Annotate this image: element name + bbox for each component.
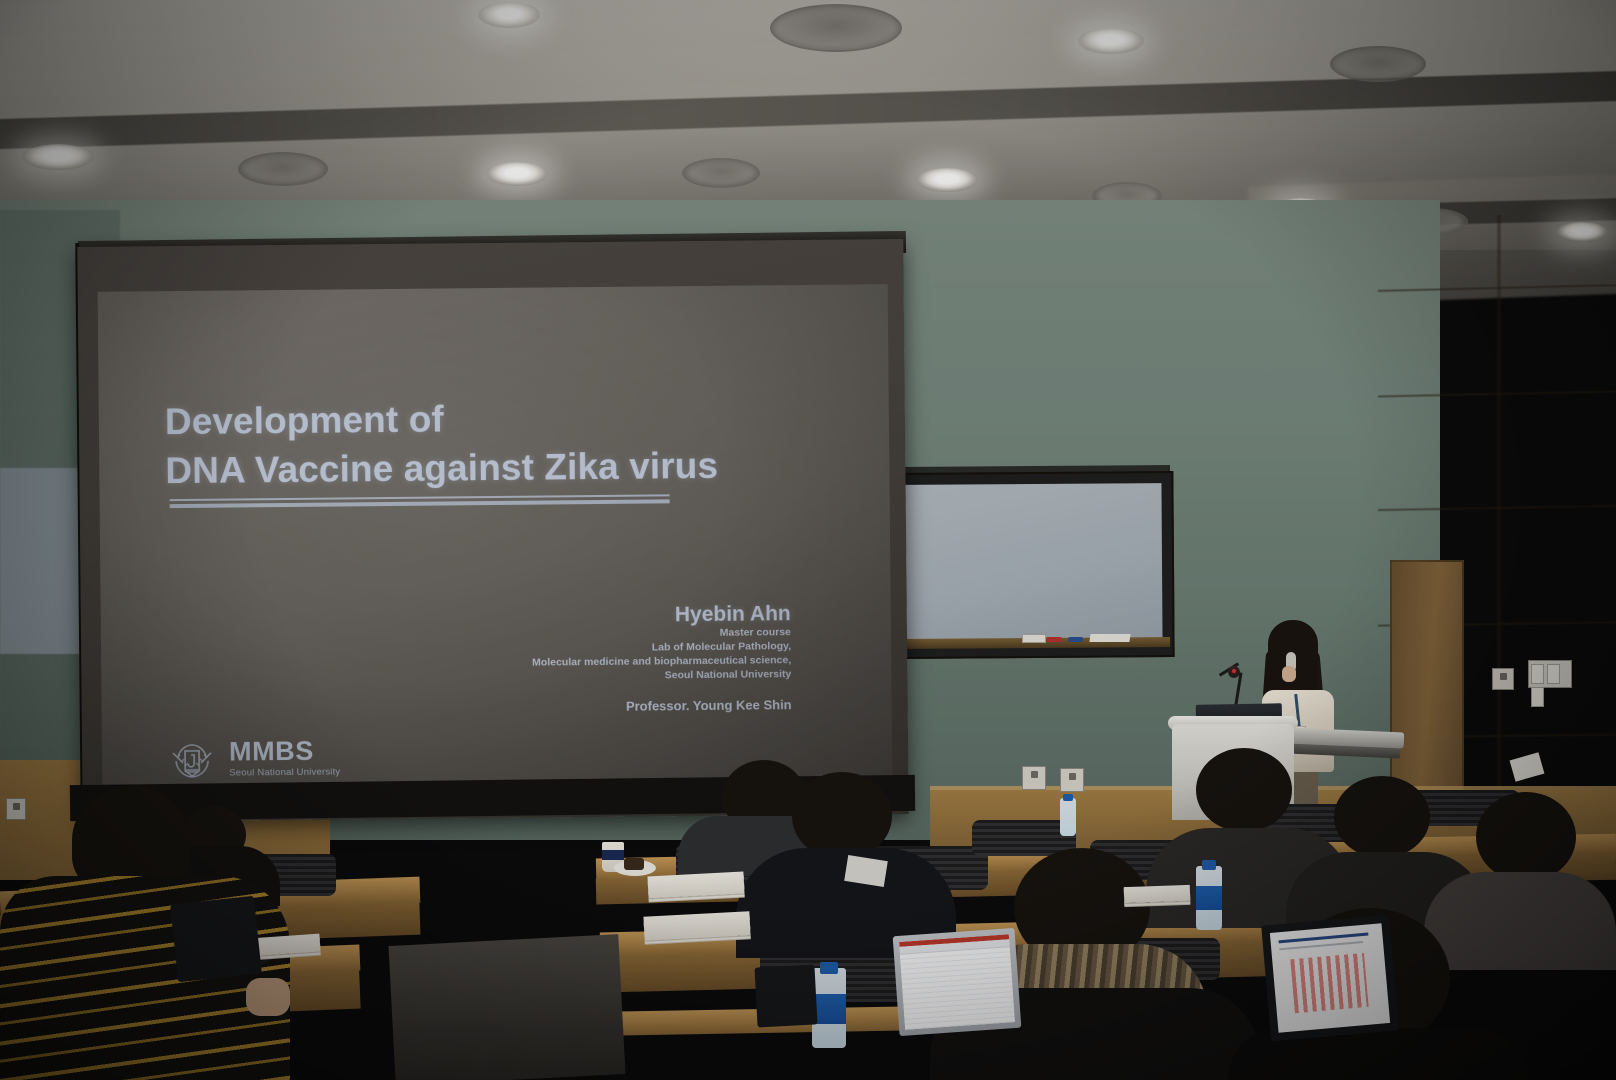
aisle-floor: [388, 934, 625, 1080]
whiteboard-paper[interactable]: [1089, 634, 1130, 642]
doc-figure: [1290, 953, 1368, 1013]
water-bottle-3[interactable]: [1060, 798, 1076, 836]
handout-stack-3[interactable]: [1124, 885, 1191, 903]
downlight-6-icon: [238, 152, 328, 186]
water-bottle-2-cap: [820, 962, 838, 974]
downlight-2-icon: [770, 4, 902, 52]
wall-outlet-2[interactable]: [1060, 768, 1084, 792]
wall-outlet-4[interactable]: [1492, 668, 1514, 690]
downlight-7-icon: [486, 162, 548, 186]
downlight-4-icon: [1330, 46, 1426, 82]
mic-status-led-icon: [1232, 669, 1236, 673]
attendee-head-back-right: [1476, 792, 1576, 882]
water-bottle-3-cap: [1063, 794, 1073, 801]
coffee-cup-band: [602, 850, 624, 860]
lecture-hall-photo: Development of DNA Vaccine against Zika …: [0, 0, 1616, 1080]
projection-falloff: [98, 284, 893, 792]
downlight-5-icon: [22, 144, 94, 170]
attendee-head-right-front: [1334, 776, 1430, 858]
water-bottle-1-cap: [1202, 860, 1216, 870]
marker-red[interactable]: [1046, 637, 1062, 642]
whiteboard[interactable]: [905, 483, 1162, 643]
downlight-3-icon: [1078, 28, 1144, 54]
downlight-1-icon: [478, 2, 540, 28]
downlight-8-icon: [682, 158, 760, 188]
laptop-spreadsheet-display: [899, 934, 1015, 1029]
downlight-9-icon: [916, 168, 978, 192]
pastry: [624, 858, 644, 870]
laptop-document-display: [1270, 923, 1390, 1032]
attendee-hand-striped-skin: [246, 978, 290, 1016]
doc-body-line-1: [1279, 941, 1363, 950]
laptop-spreadsheet[interactable]: [893, 928, 1022, 1036]
left-wall-board: [0, 468, 85, 654]
laptop-closed-left[interactable]: [170, 896, 262, 982]
attendee-head-grey-jacket: [1196, 748, 1292, 832]
whiteboard-eraser[interactable]: [1022, 634, 1046, 643]
attendee-back-right-body: [1424, 872, 1616, 970]
wall-outlet-1[interactable]: [1022, 766, 1046, 790]
marker-blue[interactable]: [1068, 637, 1083, 642]
attendee-head-suit: [792, 772, 892, 860]
light-switch-plate[interactable]: [1528, 660, 1572, 688]
laptop-near-left[interactable]: [754, 964, 817, 1027]
laptop-spreadsheet-grid: [900, 947, 1015, 1029]
wall-outlet-3[interactable]: [6, 798, 26, 820]
water-bottle-1-label: [1196, 886, 1222, 910]
presenter-hand: [1282, 666, 1296, 682]
laptop-document[interactable]: [1261, 915, 1399, 1042]
